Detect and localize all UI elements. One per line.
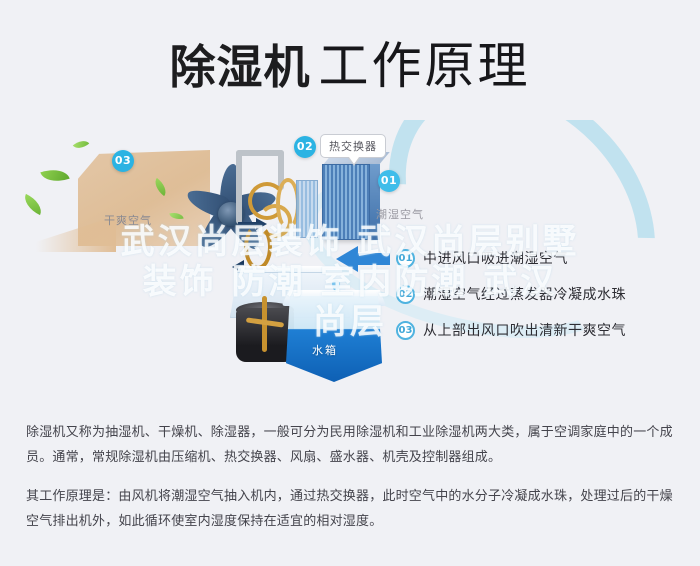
diagram-badge-02: 02: [294, 136, 316, 158]
step-text: 潮湿空气经过蒸发器冷凝成水珠: [423, 284, 626, 304]
step-badge: 03: [396, 321, 415, 340]
internal-airflow-arrow-head: [256, 218, 267, 230]
internal-airflow-arrow: [238, 222, 258, 227]
leaf-icon: [73, 137, 90, 153]
list-item: 02 潮湿空气经过蒸发器冷凝成水珠: [396, 284, 682, 304]
intake-airflow-arrow: [356, 253, 390, 265]
diagram-badge-03: 03: [112, 150, 134, 172]
step-badge: 02: [396, 285, 415, 304]
process-step-list: 01 中进风口吸进潮湿空气 02 潮湿空气经过蒸发器冷凝成水珠 03 从上部出风…: [396, 248, 682, 356]
title-light-part: 工作原理: [319, 37, 531, 95]
humid-air-label: 潮湿空气: [376, 206, 424, 222]
page-title: 除湿机工作原理: [0, 26, 700, 98]
article-body: 除湿机又称为抽湿机、干燥机、除湿器，一般可分为民用除湿机和工业除湿机两大类，属于…: [26, 420, 678, 548]
leaf-icon: [40, 164, 69, 186]
list-item: 01 中进风口吸进潮湿空气: [396, 248, 682, 268]
step-text: 从上部出风口吹出清新干爽空气: [423, 320, 626, 340]
refrigerant-pipe: [236, 150, 284, 156]
dry-air-label: 干爽空气: [104, 212, 152, 228]
water-tank-icon: [286, 296, 382, 382]
water-tank-label: 水箱: [312, 342, 338, 358]
heat-exchanger-callout: 热交换器: [320, 134, 386, 158]
step-badge: 01: [396, 249, 415, 268]
diagram-badge-01: 01: [378, 170, 400, 192]
body-paragraph-2: 其工作原理是：由风机将潮湿空气抽入机内，通过热交换器，此时空气中的水分子冷凝成水…: [26, 484, 678, 534]
infographic-page: 除湿机工作原理 干爽空气: [0, 0, 700, 566]
list-item: 03 从上部出风口吹出清新干爽空气: [396, 320, 682, 340]
refrigerant-pipe: [236, 150, 242, 224]
condenser-fin-block: [296, 180, 318, 238]
condenser-coil: [244, 224, 272, 270]
leaf-icon: [20, 194, 45, 215]
title-bold-part: 除湿机: [170, 40, 311, 94]
body-paragraph-1: 除湿机又称为抽湿机、干燥机、除湿器，一般可分为民用除湿机和工业除湿机两大类，属于…: [26, 420, 678, 470]
evaporator-block: [322, 164, 370, 240]
step-text: 中进风口吸进潮湿空气: [423, 248, 568, 268]
